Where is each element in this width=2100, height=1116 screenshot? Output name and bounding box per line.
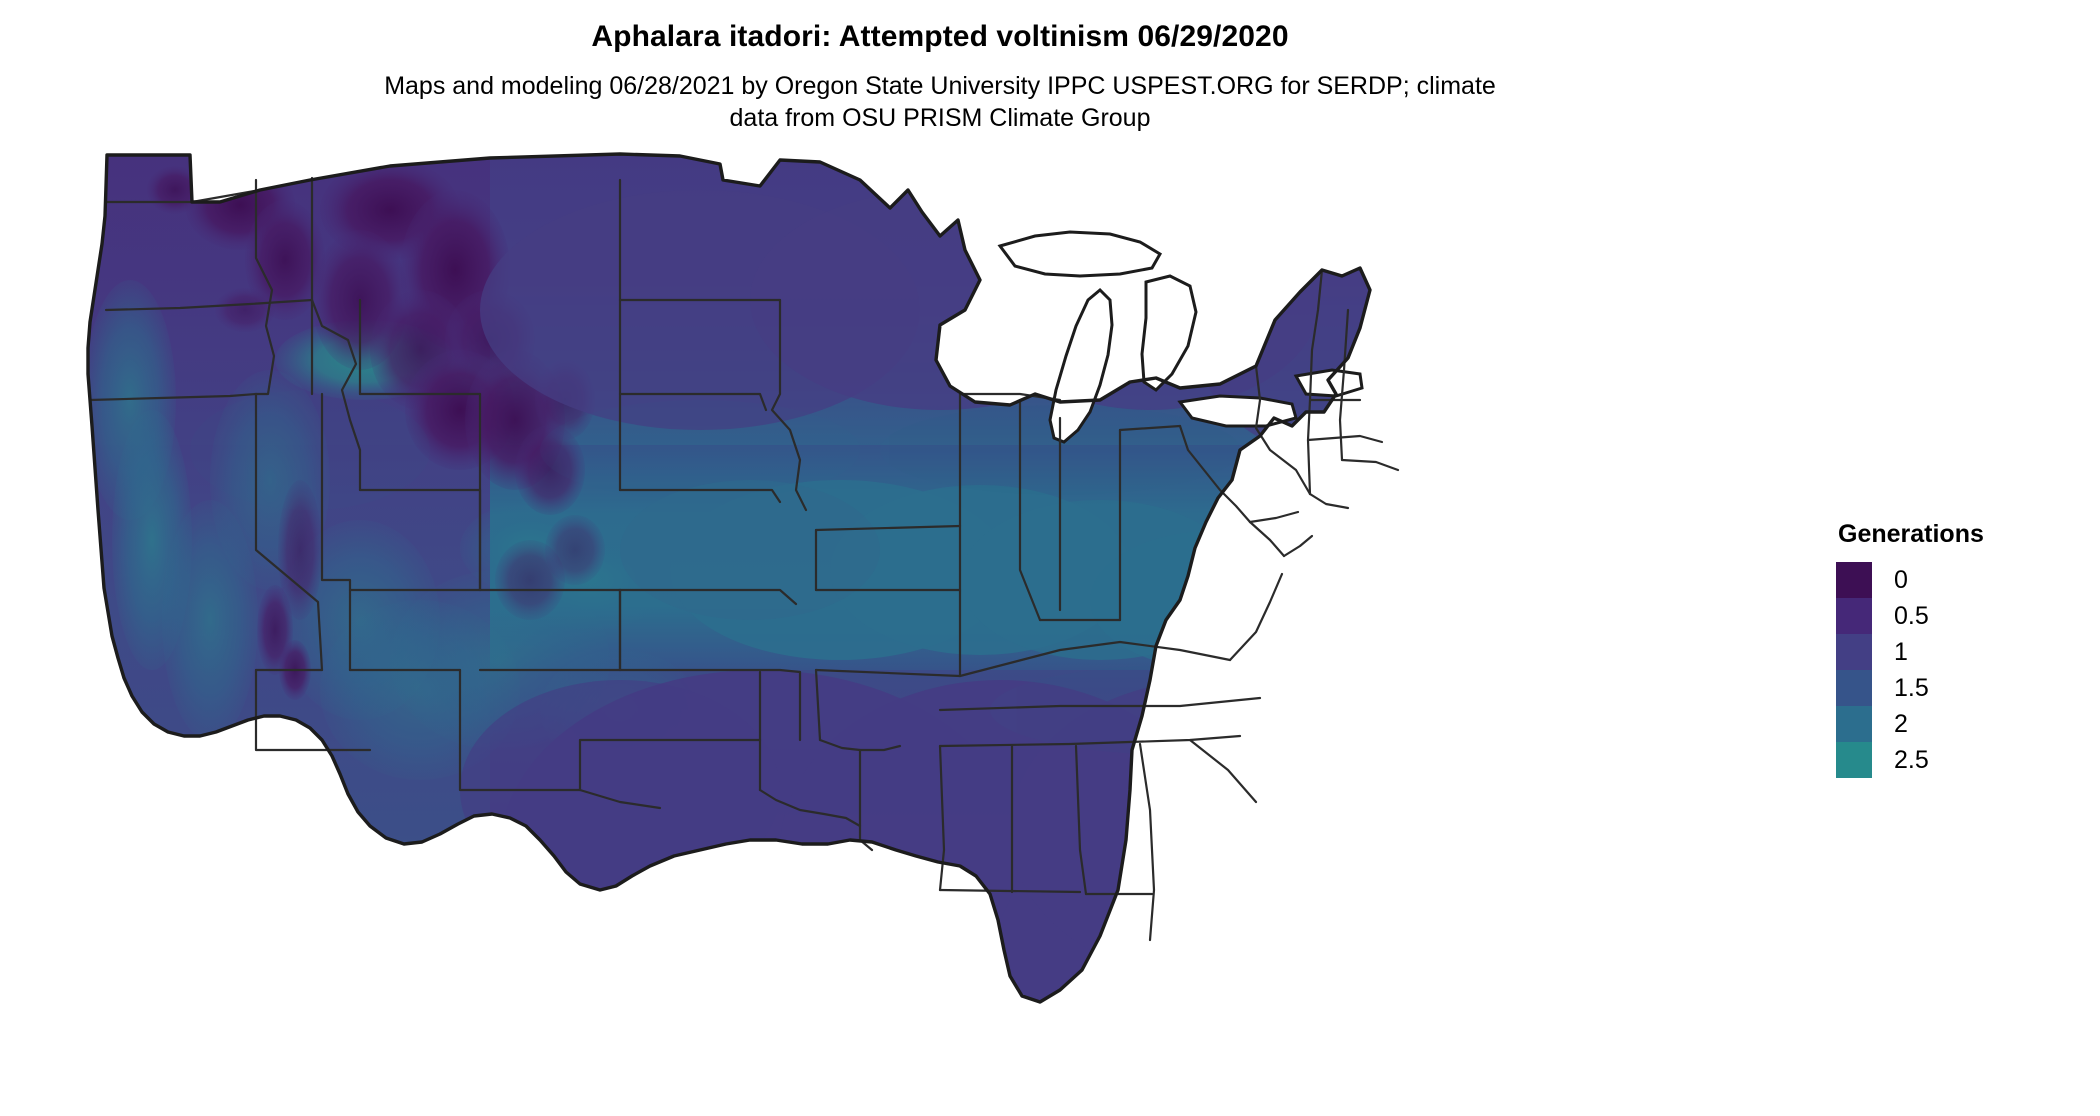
legend-label: 2.5 bbox=[1894, 748, 1929, 773]
us-choropleth-map bbox=[60, 150, 1820, 1090]
legend-swatch bbox=[1836, 598, 1872, 634]
lake-huron bbox=[1142, 276, 1196, 390]
legend-entries: 00.511.522.5 bbox=[1836, 562, 2076, 778]
legend-entry: 2.5 bbox=[1836, 742, 2076, 778]
legend: Generations 00.511.522.5 bbox=[1836, 520, 2076, 778]
page-title: Aphalara itadori: Attempted voltinism 06… bbox=[0, 18, 1880, 56]
legend-swatch bbox=[1836, 670, 1872, 706]
raster-southern-warmpurple bbox=[460, 670, 1510, 1090]
legend-entry: 2 bbox=[1836, 706, 2076, 742]
voltinism-map-figure: Aphalara itadori: Attempted voltinism 06… bbox=[0, 0, 2100, 1116]
legend-label: 1 bbox=[1894, 640, 1908, 665]
legend-swatch bbox=[1836, 706, 1872, 742]
legend-entry: 0.5 bbox=[1836, 598, 2076, 634]
legend-entry: 0 bbox=[1836, 562, 2076, 598]
map-canvas bbox=[60, 150, 1820, 1090]
legend-entry: 1.5 bbox=[1836, 670, 2076, 706]
voltinism-raster bbox=[60, 150, 1820, 1090]
map-subtitle: Maps and modeling 06/28/2021 by Oregon S… bbox=[375, 70, 1505, 135]
title-block: Aphalara itadori: Attempted voltinism 06… bbox=[0, 18, 1880, 135]
legend-label: 0.5 bbox=[1894, 604, 1929, 629]
legend-label: 1.5 bbox=[1894, 676, 1929, 701]
legend-title: Generations bbox=[1838, 520, 2076, 549]
legend-entry: 1 bbox=[1836, 634, 2076, 670]
lake-superior bbox=[1000, 232, 1160, 276]
legend-label: 2 bbox=[1894, 712, 1908, 737]
legend-label: 0 bbox=[1894, 568, 1908, 593]
legend-swatch bbox=[1836, 562, 1872, 598]
legend-swatch bbox=[1836, 742, 1872, 778]
legend-swatch bbox=[1836, 634, 1872, 670]
